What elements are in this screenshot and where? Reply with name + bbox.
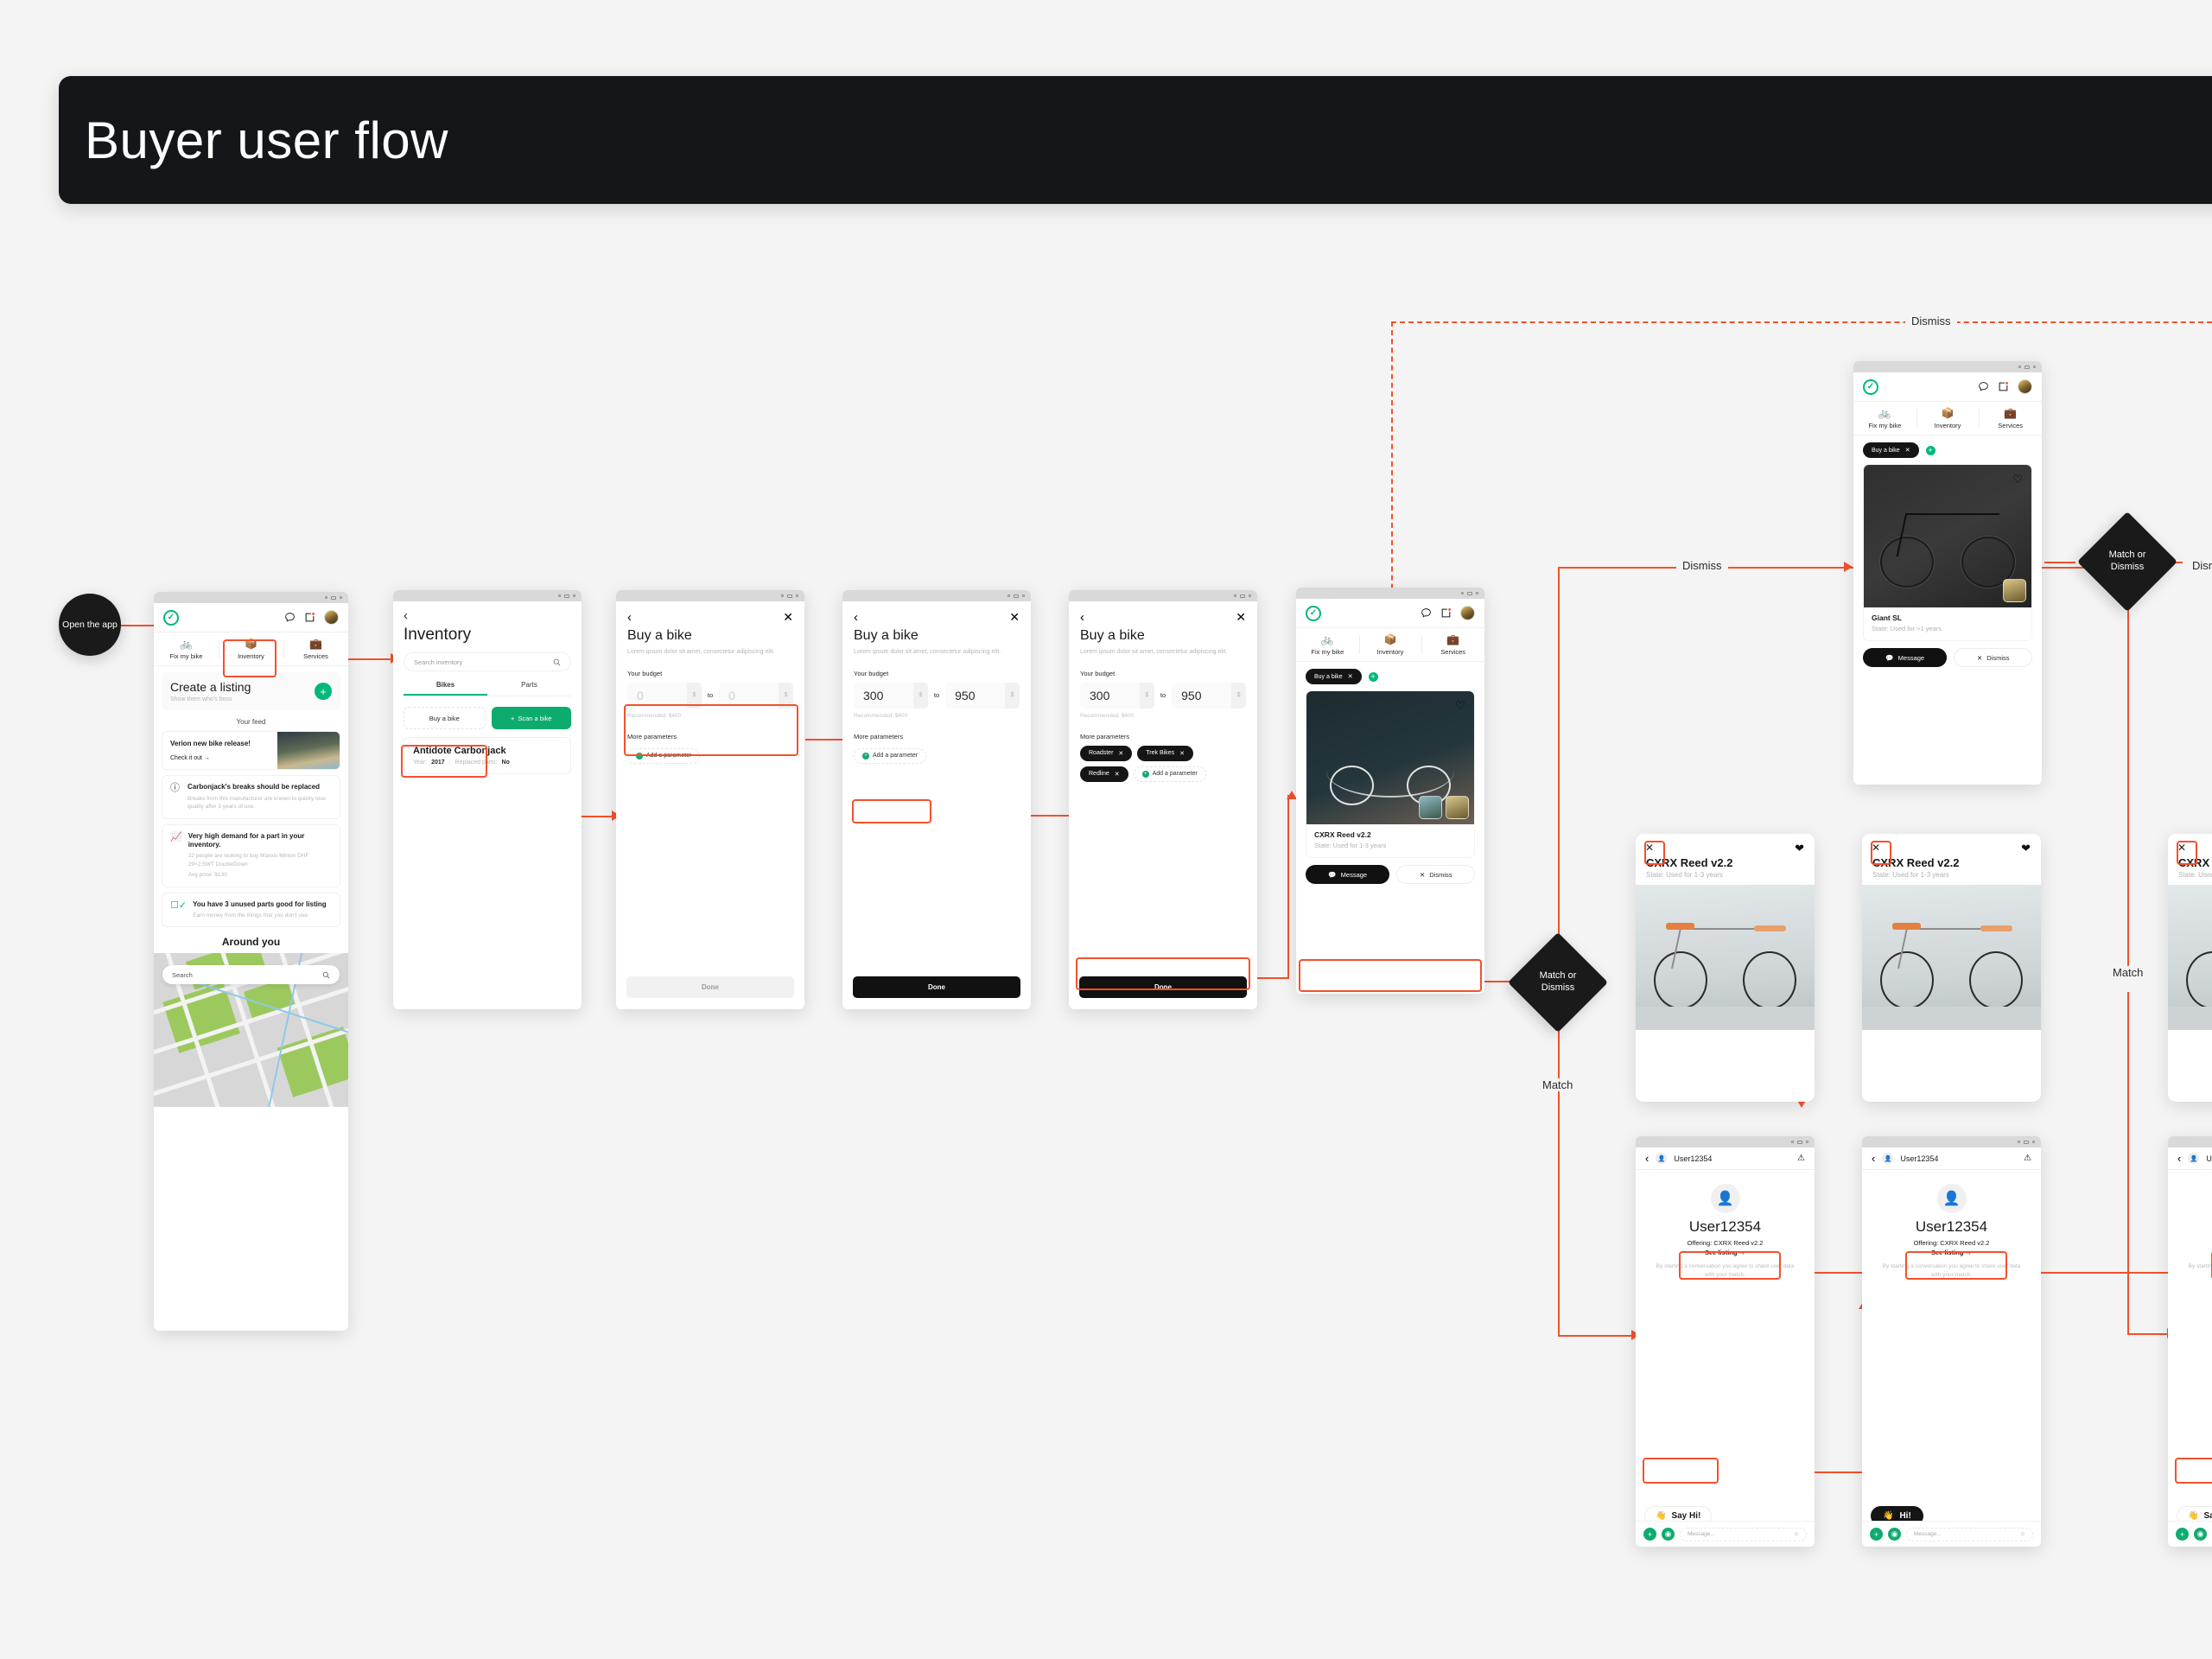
add-parameter-label: Add a parameter <box>646 753 691 759</box>
plus-icon[interactable]: + <box>315 683 332 700</box>
close-icon[interactable]: ✕ <box>1009 610 1020 625</box>
budget-to-label: to <box>708 691 713 699</box>
feed-item-price: Avg price: $130 <box>188 871 332 879</box>
budget-min-value: 0 <box>627 689 644 702</box>
notifications-icon[interactable] <box>304 612 315 623</box>
currency-symbol: $ <box>779 683 793 709</box>
connector-label-dismiss: Dismiss <box>1676 559 1728 572</box>
bike-frame <box>1897 928 2006 969</box>
recommended-text: Recommended: $400 <box>842 709 1031 719</box>
back-button[interactable]: ‹ <box>2177 1152 2181 1165</box>
status-square-icon <box>787 594 792 598</box>
create-listing-card[interactable]: Create a listing Show them who's boss + <box>162 672 340 710</box>
recommended-text: Recommended: $400 <box>616 709 804 719</box>
header-icons <box>1978 379 2032 394</box>
status-square-icon <box>2024 1141 2029 1144</box>
feed-item-release[interactable]: Verion new bike release! Check it out → <box>162 731 340 770</box>
chat-icon[interactable] <box>1421 607 1432 619</box>
budget-label: Your budget <box>616 670 804 677</box>
plus-icon: + <box>636 753 643 760</box>
thumbnail-strip[interactable] <box>1419 796 1469 819</box>
chat-header: ‹ 👤 User12354 ⚠ <box>1636 1147 1815 1170</box>
budget-min-input[interactable]: 300 $ <box>854 683 928 709</box>
chat-body: 👤 User12354 Offering: CXRX Reed v2.2 See… <box>1862 1184 2041 1535</box>
buy-a-bike-button[interactable]: Buy a bike <box>404 707 486 729</box>
bike-icon: 🚲 <box>154 639 219 650</box>
nav-tab-label: Services <box>1998 422 2023 429</box>
status-dot-icon <box>1234 594 1236 597</box>
back-button[interactable]: ‹ <box>854 610 858 625</box>
app-header: ✓ <box>154 603 348 632</box>
phone-listing-cxrx: ✓ 🚲 Fix my bike 📦 Inventory <box>1296 588 1484 994</box>
currency-symbol: $ <box>1005 683 1020 709</box>
connector <box>2127 1333 2172 1335</box>
item-parts: No <box>502 760 510 766</box>
bike-frame <box>1896 513 1999 556</box>
status-square-icon <box>2024 365 2030 369</box>
chat-input-bar: + ◉ Message... ☺ <box>2168 1521 2212 1547</box>
thumbnail[interactable] <box>1446 796 1469 819</box>
param-chip-redline[interactable]: Redline ✕ <box>1080 766 1128 782</box>
nav-tab-label: Inventory <box>1935 422 1961 429</box>
nav-tab-inventory[interactable]: 📦 Inventory <box>219 632 283 665</box>
bike-saddle <box>1892 923 1921 930</box>
connector-label-match-right: Match <box>2107 966 2149 979</box>
listing-card[interactable]: ♡ CXRX Reed v2.2 State: Used for 1-3 yea… <box>1306 690 1475 858</box>
item-year-label: Year: <box>413 760 427 766</box>
connector <box>1558 567 1560 947</box>
avatar: 👤 <box>1882 1153 1893 1164</box>
status-bar <box>1069 590 1257 601</box>
feed-item-body: Earn money from the things that you don'… <box>193 912 327 919</box>
status-dot-icon <box>2018 1141 2020 1143</box>
status-dot-icon <box>796 594 798 597</box>
back-button[interactable]: ‹ <box>1872 1152 1875 1165</box>
map-view[interactable]: Search <box>154 953 348 1107</box>
done-button[interactable]: Done <box>1079 976 1247 998</box>
currency-symbol: $ <box>1140 683 1154 709</box>
connector <box>1255 977 1289 979</box>
swipe-card-state: State: Used for 1-3 years <box>1872 871 2031 879</box>
active-filters: Buy a bike ✕ + <box>1296 662 1484 684</box>
plus-icon: + <box>1142 771 1149 778</box>
decision-label: Match or Dismiss <box>1506 970 1610 995</box>
swipe-card-title: CXRX Reed v2.2 <box>1872 856 2031 869</box>
modal-title: Buy a bike <box>842 625 1031 644</box>
active-filters: Buy a bike ✕ + <box>1853 435 2042 458</box>
favorite-icon[interactable]: ♡ <box>1455 699 1465 713</box>
chat-icon[interactable] <box>1978 381 1989 392</box>
chat-header: ‹ 👤 User12354 ⚠ <box>2168 1147 2212 1170</box>
info-icon: ⓘ <box>170 783 181 810</box>
status-square-icon <box>1014 594 1019 598</box>
avatar-large: 👤 <box>1937 1184 1967 1213</box>
connector-label-match: Match <box>1536 1078 1579 1091</box>
status-square-icon <box>1467 592 1472 595</box>
swipe-card-header: ✕ ❤ CXRX Reed v2.2 State: Used for 1-3 y… <box>1862 834 2041 885</box>
plus-icon: + <box>862 753 869 760</box>
recommended-text: Recommended: $400 <box>1069 709 1257 719</box>
scan-label: Scan a bike <box>518 715 551 722</box>
chat-offering: Offering: CXRX Reed v2.2 <box>1862 1239 2041 1247</box>
status-dot-icon <box>1806 1141 1808 1143</box>
attach-icon[interactable]: + <box>2176 1528 2189 1541</box>
avatar[interactable] <box>2018 379 2032 394</box>
start-node: Open the app <box>59 594 121 656</box>
feed-item-body: Breaks from this manufacturer are known … <box>188 795 332 811</box>
chat-user-title: User12354 <box>1862 1218 2041 1236</box>
swipe-card-3[interactable]: ✕ ❤ CXRX Reed v2.2 State: Used for 1-3 y… <box>2168 834 2212 1102</box>
chip-label: Buy a bike <box>1314 674 1343 680</box>
listing-image: ♡ <box>1864 465 2031 607</box>
thumbnail[interactable] <box>1419 796 1442 819</box>
thumbnail[interactable] <box>2003 579 2026 602</box>
budget-row: 300 $ to 950 $ <box>842 683 1031 709</box>
report-icon[interactable]: ⚠ <box>2024 1154 2031 1163</box>
status-dot-icon <box>558 594 561 597</box>
floor <box>1636 1007 1815 1030</box>
feed-item-image <box>277 732 340 769</box>
status-bar <box>393 590 582 601</box>
camera-icon[interactable]: ◉ <box>1662 1528 1675 1541</box>
swipe-card-2[interactable]: ✕ ❤ CXRX Reed v2.2 State: Used for 1-3 y… <box>1862 834 2041 1102</box>
dismiss-icon[interactable]: ✕ <box>1645 842 1654 854</box>
inventory-item[interactable]: Antidote Carbonjack Year: 2017 | Replace… <box>404 737 571 774</box>
budget-row: 300 $ to 950 $ <box>1069 683 1257 709</box>
add-parameter-button[interactable]: + Add a parameter <box>1134 766 1206 782</box>
status-bar <box>616 590 804 601</box>
budget-max-input[interactable]: 950 $ <box>945 683 1020 709</box>
search-icon <box>553 658 561 666</box>
status-square-icon <box>1797 1141 1802 1144</box>
attach-icon[interactable]: + <box>1643 1528 1656 1541</box>
dismiss-button[interactable]: ✕ Dismiss <box>1396 865 1475 884</box>
listing-name: Giant SL <box>1872 613 2024 622</box>
filter-chip-buy-a-bike[interactable]: Buy a bike ✕ <box>1863 442 1919 458</box>
connector <box>2127 598 2129 973</box>
status-square-icon <box>331 596 336 600</box>
budget-min-input[interactable]: 0 $ <box>627 683 702 709</box>
chat-input-bar: + ◉ Message... ☺ <box>1636 1521 1815 1547</box>
chat-icon: 💬 <box>1885 654 1893 662</box>
done-button[interactable]: Done <box>626 976 794 998</box>
map-search-input[interactable]: Search <box>162 965 340 984</box>
see-listing-link[interactable]: See listing → <box>1636 1249 1815 1256</box>
chat-terms: By starting a conversation you agree to … <box>1636 1262 1815 1280</box>
budget-max-input[interactable]: 950 $ <box>1172 683 1246 709</box>
phone-buy-modal-values: ‹ ✕ Buy a bike Lorem ipsum dolor sit ame… <box>842 590 1031 1009</box>
scan-a-bike-button[interactable]: + Scan a bike <box>492 707 572 729</box>
avatar-large: 👤 <box>1711 1184 1740 1213</box>
close-icon[interactable]: ✕ <box>783 610 793 625</box>
connector-label-dismiss-right: Dismiss <box>2186 559 2212 572</box>
wave-icon: 👋 <box>1883 1511 1893 1521</box>
message-text: Hi! <box>1899 1511 1910 1521</box>
add-parameter-button[interactable]: + Add a parameter <box>627 748 700 764</box>
status-dot-icon <box>781 594 784 597</box>
phone-listing-giant: ✓ 🚲 Fix my bike 📦 Inventory <box>1853 361 2042 785</box>
status-dot-icon <box>2032 1141 2035 1143</box>
status-dot-icon <box>2018 365 2021 368</box>
message-label: Message <box>1898 654 1924 662</box>
chat-icon[interactable] <box>284 612 296 623</box>
main-nav-tabs: 🚲 Fix my bike 📦 Inventory 💼 Services <box>1853 402 2042 435</box>
close-icon[interactable]: ✕ <box>1905 447 1910 454</box>
connector-dashed <box>1391 321 2212 323</box>
listing-card[interactable]: ♡ Giant SL State: Used for >1 years <box>1863 464 2032 641</box>
status-bar <box>2168 1136 2212 1147</box>
budget-max-input[interactable]: 0 $ <box>719 683 793 709</box>
done-button[interactable]: Done <box>853 976 1020 998</box>
budget-min-input[interactable]: 300 $ <box>1080 683 1154 709</box>
more-parameters-label: More parameters <box>616 733 804 741</box>
page-title: Buyer user flow <box>85 111 448 170</box>
wave-icon: 👋 <box>2188 1511 2198 1521</box>
avatar: 👤 <box>2188 1153 2199 1164</box>
emoji-icon[interactable]: ☺ <box>2019 1531 2025 1537</box>
add-parameter-label: Add a parameter <box>873 753 918 759</box>
back-button[interactable]: ‹ <box>1645 1152 1649 1165</box>
budget-label: Your budget <box>842 670 1031 677</box>
status-square-icon <box>1240 594 1245 598</box>
toolbox-icon: 💼 <box>283 639 348 650</box>
close-icon[interactable]: ✕ <box>1179 750 1185 757</box>
nav-tab-services[interactable]: 💼 Services <box>1979 402 2042 435</box>
map-park <box>277 1027 348 1098</box>
swipe-card-state: State: Used for 1-3 years <box>2178 871 2212 879</box>
message-placeholder: Message... <box>1688 1531 1715 1537</box>
message-placeholder: Message... <box>1914 1531 1942 1537</box>
app-logo-check-icon: ✓ <box>163 610 179 626</box>
chat-input-bar: + ◉ Message... ☺ <box>1862 1521 2041 1547</box>
dismiss-label: Dismiss <box>1986 654 2009 662</box>
feed-item-title: You have 3 unused parts good for listing <box>193 900 327 909</box>
filter-chip-buy-a-bike[interactable]: Buy a bike ✕ <box>1306 669 1362 684</box>
dismiss-icon[interactable]: ✕ <box>1872 842 1880 854</box>
feed-item-unused-parts[interactable]: ☐✓ You have 3 unused parts good for list… <box>162 893 340 928</box>
close-icon: ✕ <box>1977 654 1982 662</box>
nav-tab-services[interactable]: 💼 Services <box>1421 628 1484 661</box>
listing-state: State: Used for >1 years <box>1872 625 2024 632</box>
status-dot-icon <box>1022 594 1025 597</box>
nav-tab-label: Fix my bike <box>1868 422 1901 429</box>
avatar[interactable] <box>324 610 339 625</box>
connector <box>2127 992 2129 1333</box>
notifications-icon[interactable] <box>1998 381 2009 392</box>
item-year: 2017 <box>431 760 445 766</box>
chat-terms: By starting a conversation you agree to … <box>1862 1262 2041 1280</box>
phone-home: ✓ 🚲 Fix my bike 📦 Inventory <box>154 592 348 1331</box>
swipe-card-1[interactable]: ✕ ❤ CXRX Reed v2.2 State: Used for 1-3 y… <box>1636 834 1815 1102</box>
inventory-subtabs: Bikes Parts <box>404 681 571 696</box>
param-chip-trek-bikes[interactable]: Trek Bikes ✕ <box>1137 746 1193 761</box>
connector <box>2044 562 2075 563</box>
bike-wheel <box>2186 951 2212 1009</box>
listing-meta: CXRX Reed v2.2 State: Used for 1-3 years <box>1306 824 1474 857</box>
map-search-placeholder: Search <box>172 971 193 979</box>
inventory-search-input[interactable]: Search inventory <box>404 652 571 671</box>
status-dot-icon <box>1461 592 1464 594</box>
search-placeholder: Search inventory <box>414 658 462 666</box>
listing-actions: 💬 Message ✕ Dismiss <box>1853 641 2042 676</box>
modal-top-bar: ‹ ✕ <box>1069 601 1257 625</box>
camera-icon[interactable]: ◉ <box>1888 1528 1901 1541</box>
nav-tab-fix-my-bike[interactable]: 🚲 Fix my bike <box>1853 402 1916 435</box>
back-button[interactable]: ‹ <box>627 610 632 625</box>
swipe-card-header: ✕ ❤ CXRX Reed v2.2 State: Used for 1-3 y… <box>1636 834 1815 885</box>
budget-to-label: to <box>1160 691 1166 699</box>
dismiss-label: Dismiss <box>1429 871 1452 879</box>
camera-icon[interactable]: ◉ <box>2194 1528 2207 1541</box>
flow-canvas: Buyer user flow Dismiss Match Dismiss Ma… <box>0 0 2212 1659</box>
status-bar <box>1862 1136 2041 1147</box>
listing-meta: Giant SL State: Used for >1 years <box>1864 607 2031 640</box>
chat-user-title: User12354 <box>1636 1218 1815 1236</box>
avatar: 👤 <box>1656 1153 1667 1164</box>
listing-actions: 💬 Message ✕ Dismiss <box>1296 858 1484 893</box>
phone-chat-sent: ‹ 👤 User12354 ⚠ 👤 User12354 Offering: CX… <box>1862 1136 2041 1547</box>
toolbox-icon: 💼 <box>1979 408 2042 419</box>
feed-item-title: Carbonjack's breaks should be replaced <box>188 783 332 791</box>
toolbox-icon: 💼 <box>1421 634 1484 645</box>
connector <box>1558 1015 1560 1335</box>
budget-max-value: 950 <box>1172 689 1201 702</box>
chip-label: Buy a bike <box>1872 448 1900 454</box>
budget-row: 0 $ to 0 $ <box>616 683 804 709</box>
feed-item-cta[interactable]: Check it out → <box>170 755 263 761</box>
nav-tab-fix-my-bike[interactable]: 🚲 Fix my bike <box>1296 628 1359 661</box>
bike-handlebar <box>1980 925 2012 931</box>
favorite-icon[interactable]: ❤ <box>2021 842 2031 855</box>
trend-icon: 📈 <box>170 832 182 880</box>
chat-body: 👤 User12354 Offering: CXRX Reed v2.2 See… <box>1636 1184 1815 1535</box>
add-filter-icon[interactable]: + <box>1926 446 1935 455</box>
chip-label: Trek Bikes <box>1146 750 1174 756</box>
see-listing-link[interactable]: See listing → <box>1862 1249 2041 1256</box>
nav-tab-inventory[interactable]: 📦 Inventory <box>1359 628 1422 661</box>
wave-icon: 👋 <box>1656 1511 1666 1521</box>
modal-desc: Lorem ipsum dolor sit amet, consectetur … <box>616 644 804 658</box>
main-nav-tabs: 🚲 Fix my bike 📦 Inventory 💼 Services <box>1296 628 1484 662</box>
param-chip-roadster[interactable]: Roadster ✕ <box>1080 746 1132 761</box>
swipe-card-photo <box>1862 885 2041 1030</box>
notifications-icon[interactable] <box>1440 607 1452 619</box>
page-title: Inventory <box>393 622 582 645</box>
budget-max-value: 950 <box>945 689 975 702</box>
status-bar <box>1636 1136 1815 1147</box>
back-button[interactable]: ‹ <box>393 601 582 622</box>
say-hi-label: Say Hi! <box>1671 1511 1700 1521</box>
report-icon[interactable]: ⚠ <box>1797 1154 1805 1163</box>
status-bar <box>154 592 348 603</box>
bike-icon: 🚲 <box>1296 634 1359 645</box>
favorite-icon[interactable]: ♡ <box>2012 473 2023 486</box>
chat-header: ‹ 👤 User12354 ⚠ <box>1862 1147 2041 1170</box>
close-icon[interactable]: ✕ <box>1118 750 1123 757</box>
back-button[interactable]: ‹ <box>1080 610 1084 625</box>
status-square-icon <box>564 594 569 598</box>
feed-item-demand[interactable]: 📈 Very high demand for a part in your in… <box>162 824 340 887</box>
swipe-card-title: CXRX Reed v2.2 <box>1646 856 1804 869</box>
more-parameters-label: More parameters <box>1069 733 1257 741</box>
message-input[interactable]: Message... ☺ <box>1680 1528 1807 1541</box>
message-label: Message <box>1341 871 1367 879</box>
swipe-card-state: State: Used for 1-3 years <box>1646 871 1804 879</box>
search-icon <box>322 971 330 979</box>
currency-symbol: $ <box>913 683 928 709</box>
nav-tab-label: Fix my bike <box>170 652 203 660</box>
subtab-bikes[interactable]: Bikes <box>404 681 487 696</box>
phone-buy-modal-chips: ‹ ✕ Buy a bike Lorem ipsum dolor sit ame… <box>1069 590 1257 1009</box>
modal-top-bar: ‹ ✕ <box>842 601 1031 625</box>
item-parts-label: Replaced parts: <box>455 760 498 766</box>
connector-dashed <box>1391 321 1393 607</box>
add-filter-icon[interactable]: + <box>1369 672 1378 682</box>
decision-label: Match or Dismiss <box>2075 550 2179 574</box>
dismiss-button[interactable]: ✕ Dismiss <box>1954 648 2032 667</box>
message-button[interactable]: 💬 Message <box>1863 648 1947 667</box>
page-title-banner: Buyer user flow <box>59 76 2212 204</box>
bike-icon: 🚲 <box>1853 408 1916 419</box>
chat-body: 👤 User12354 Offering: CXRX Reed v2.2 See… <box>2168 1184 2212 1535</box>
feed-item-title: Verion new bike release! <box>170 740 263 748</box>
attach-icon[interactable]: + <box>1870 1528 1883 1541</box>
phone-buy-modal-empty: ‹ ✕ Buy a bike Lorem ipsum dolor sit ame… <box>616 590 804 1009</box>
chat-user-name: User12354 <box>2206 1154 2212 1163</box>
phone-chat-clipped: ‹ 👤 User12354 ⚠ 👤 User12354 Offering: CX… <box>2168 1136 2212 1547</box>
status-bar <box>842 590 1031 601</box>
nav-tab-inventory[interactable]: 📦 Inventory <box>1916 402 1980 435</box>
add-parameter-button[interactable]: + Add a parameter <box>854 748 926 764</box>
status-bar <box>1296 588 1484 599</box>
status-dot-icon <box>2033 365 2036 368</box>
nav-tab-services[interactable]: 💼 Services <box>283 632 348 665</box>
app-header: ✓ <box>1296 599 1484 628</box>
avatar[interactable] <box>1460 606 1475 620</box>
close-icon[interactable]: ✕ <box>1115 771 1120 778</box>
header-icons <box>1421 606 1475 620</box>
thumbnail-strip[interactable] <box>2003 579 2026 602</box>
favorite-icon[interactable]: ❤ <box>1795 842 1804 855</box>
emoji-icon[interactable]: ☺ <box>1793 1531 1799 1537</box>
status-dot-icon <box>1791 1141 1794 1143</box>
main-nav-tabs: 🚲 Fix my bike 📦 Inventory 💼 Services <box>154 632 348 666</box>
phone-chat-say-hi: ‹ 👤 User12354 ⚠ 👤 User12354 Offering: CX… <box>1636 1136 1815 1547</box>
create-listing-subtitle: Show them who's boss <box>170 696 251 702</box>
bike-wheel <box>1330 766 1373 805</box>
budget-min-value: 300 <box>1080 689 1109 702</box>
see-listing-link[interactable]: See listing → <box>2168 1249 2212 1256</box>
modal-title: Buy a bike <box>616 625 804 644</box>
message-button[interactable]: 💬 Message <box>1306 865 1389 884</box>
bike-handlebar <box>1754 925 1786 931</box>
dismiss-icon[interactable]: ✕ <box>2177 842 2186 854</box>
nav-tab-fix-my-bike[interactable]: 🚲 Fix my bike <box>154 632 219 665</box>
status-bar <box>1853 361 2042 372</box>
connector-label-dismiss-top: Dismiss <box>1905 315 1957 327</box>
swipe-card-header: ✕ ❤ CXRX Reed v2.2 State: Used for 1-3 y… <box>2168 834 2212 885</box>
subtab-parts[interactable]: Parts <box>487 681 571 696</box>
close-icon[interactable]: ✕ <box>1348 673 1353 680</box>
close-icon: ✕ <box>1420 871 1425 879</box>
swipe-card-photo <box>2168 885 2212 1030</box>
message-input[interactable]: Message... ☺ <box>1906 1528 2033 1541</box>
bike-saddle <box>1666 923 1694 930</box>
close-icon[interactable]: ✕ <box>1236 610 1246 625</box>
feed-item-breaks[interactable]: ⓘ Carbonjack's breaks should be replaced… <box>162 775 340 818</box>
feed-item-title: Very high demand for a part in your inve… <box>188 832 332 850</box>
box-icon: 📦 <box>1359 634 1422 645</box>
